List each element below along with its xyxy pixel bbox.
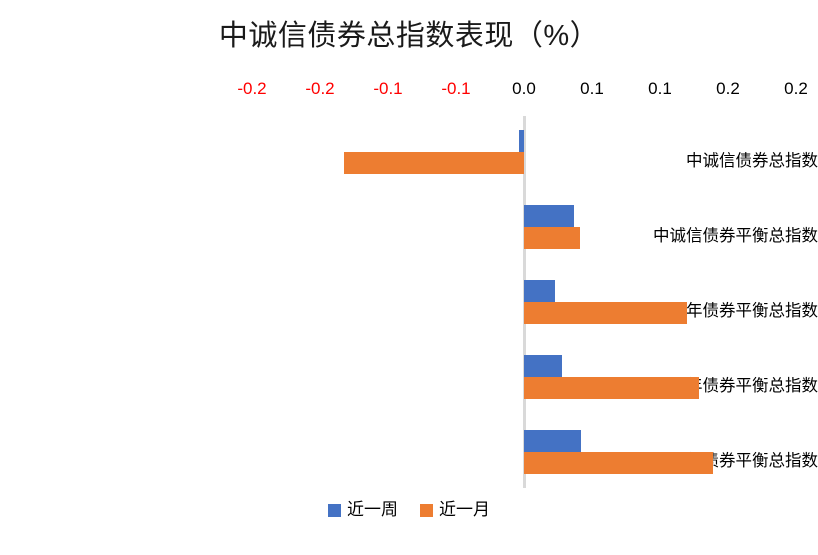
chart-title: 中诚信债券总指数表现（%） [0,16,818,56]
bar-near-month [344,152,524,174]
x-tick-label-8: 0.2 [756,79,818,99]
legend-swatch-icon [420,504,433,517]
bar-near-week [524,280,555,302]
category-label: 中诚信债券平衡总指数 [560,225,818,247]
category-group: 中诚信1-3年债券平衡总指数 [0,430,818,505]
category-group: 中诚信0-1年债券平衡总指数 [0,280,818,355]
bar-near-week [524,355,562,377]
legend-item-0[interactable]: 近一周 [328,499,398,521]
legend-label: 近一周 [347,499,398,521]
bar-near-week [524,205,574,227]
bar-near-week [524,430,581,452]
bar-near-month [524,302,687,324]
category-group: 中诚信债券总指数 [0,130,818,205]
legend-swatch-icon [328,504,341,517]
category-group: 中诚信0-2年债券平衡总指数 [0,355,818,430]
category-group: 中诚信债券平衡总指数 [0,205,818,280]
category-label: 中诚信债券总指数 [560,150,818,172]
plot-area: 中诚信债券总指数中诚信债券平衡总指数中诚信0-1年债券平衡总指数中诚信0-2年债… [0,110,818,488]
x-axis-tick-labels: -0.2-0.2-0.1-0.10.00.10.10.20.2 [0,79,818,101]
bar-near-week [519,130,524,152]
legend-label: 近一月 [439,499,490,521]
bar-near-month [524,227,580,249]
chart-legend: 近一周近一月 [0,499,818,521]
bar-chart: 中诚信债券总指数表现（%） -0.2-0.2-0.1-0.10.00.10.10… [0,0,818,555]
legend-item-1[interactable]: 近一月 [420,499,490,521]
bar-near-month [524,452,713,474]
bar-near-month [524,377,699,399]
